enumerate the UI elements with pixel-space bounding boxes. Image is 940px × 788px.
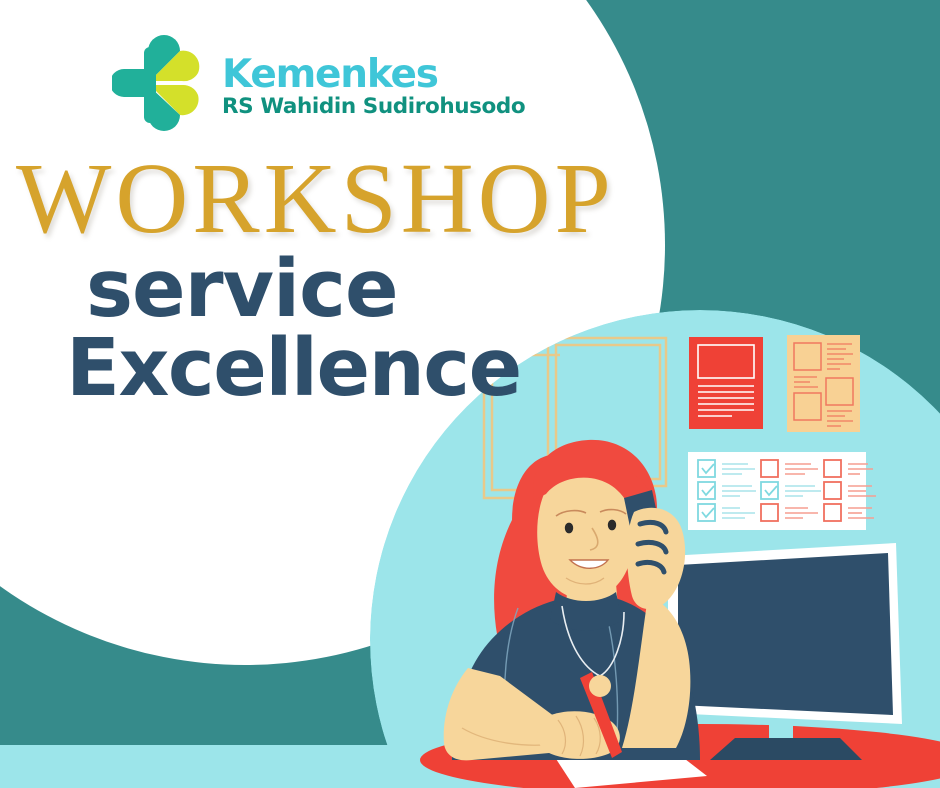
monitor-base <box>710 738 862 760</box>
necklace-pendant <box>589 675 611 697</box>
logo-petal-left <box>112 69 146 97</box>
logo-subtitle: RS Wahidin Sudirohusodo <box>222 96 525 118</box>
kemenkes-petal-logo-icon <box>112 33 208 133</box>
logo-title: Kemenkes <box>222 55 525 94</box>
logo-wordmark: Kemenkes RS Wahidin Sudirohusodo <box>222 49 525 118</box>
logo-petal-center-bar <box>144 47 156 123</box>
checklist-board <box>688 452 876 530</box>
headline-workshop: WORKSHOP <box>16 148 616 249</box>
red-wall-poster <box>689 337 763 429</box>
kemenkes-logo: Kemenkes RS Wahidin Sudirohusodo <box>112 28 532 138</box>
eye-left <box>565 523 573 534</box>
eye-right <box>608 520 616 531</box>
poster-canvas: Kemenkes RS Wahidin Sudirohusodo WORKSHO… <box>0 0 940 788</box>
headline-service: service <box>86 250 398 329</box>
tan-wall-document <box>787 335 860 432</box>
monitor-screen <box>678 553 893 715</box>
headline-excellence: Excellence <box>66 329 521 408</box>
